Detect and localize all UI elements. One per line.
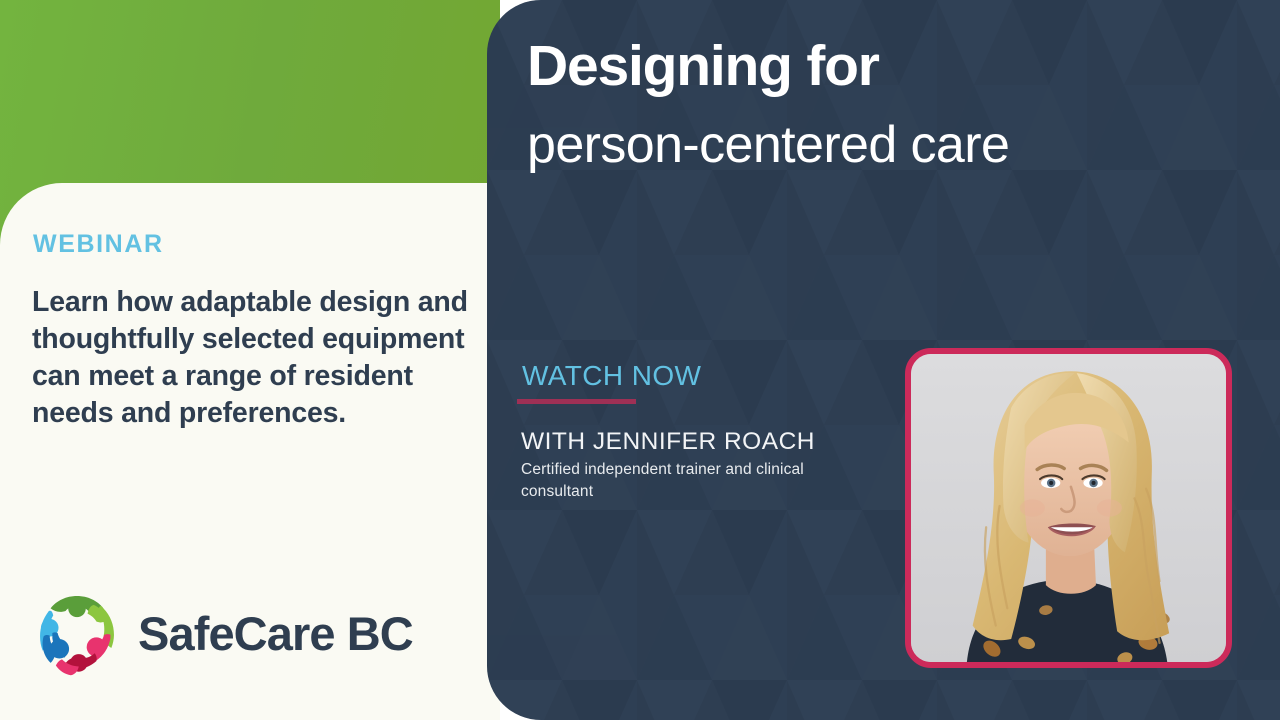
- safecare-bc-logo: SafeCare BC: [33, 589, 413, 677]
- lead-copy-text: Learn how adaptable design and thoughtfu…: [32, 284, 472, 432]
- left-column: WEBINAR Learn how adaptable design and t…: [0, 0, 500, 720]
- page-subtitle: person-centered care: [527, 116, 1009, 174]
- right-dark-panel: Designing for person-centered care WATCH…: [487, 0, 1280, 720]
- speaker-portrait-frame: [905, 348, 1232, 668]
- speaker-role: Certified independent trainer and clinic…: [521, 459, 851, 503]
- watch-now-label[interactable]: WATCH NOW: [522, 360, 701, 392]
- eyebrow-label: WEBINAR: [33, 230, 164, 259]
- cta-underline-rule: [517, 399, 636, 404]
- page-title: Designing for: [527, 36, 879, 98]
- logo-wordmark: SafeCare BC: [138, 610, 413, 657]
- speaker-name: WITH JENNIFER ROACH: [521, 428, 815, 456]
- speaker-portrait-photo: [911, 354, 1226, 662]
- safecare-bc-circle-people-logo-icon: [33, 589, 121, 677]
